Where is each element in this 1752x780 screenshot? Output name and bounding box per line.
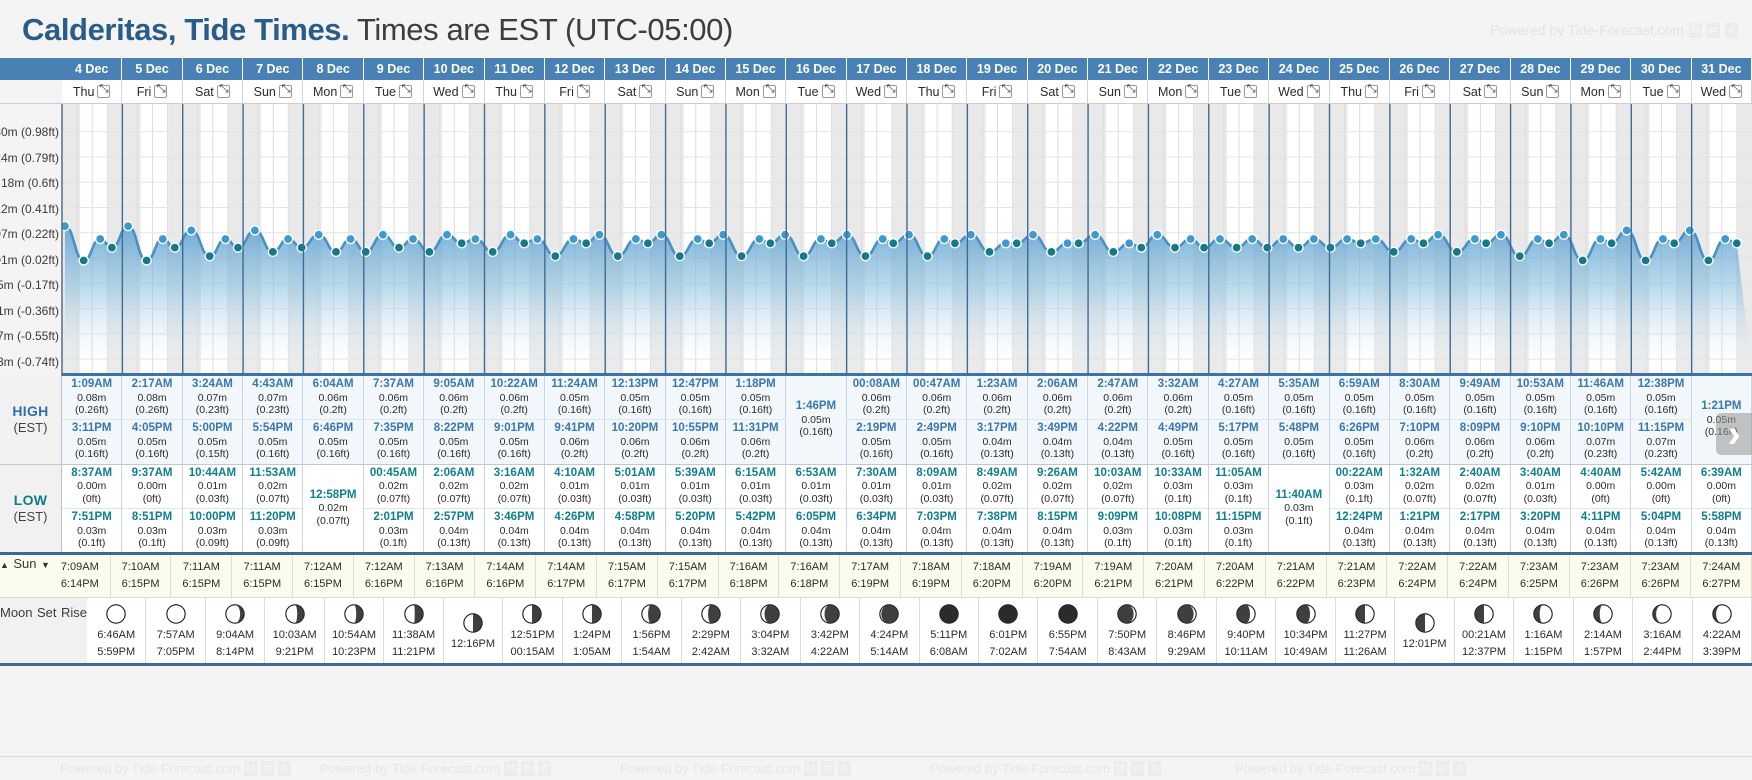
high-tide-feet: (0.16ft) — [1330, 448, 1389, 460]
date-header-13[interactable]: 16 Dec — [786, 58, 846, 80]
low-tide-metres: 0.03m — [1330, 480, 1389, 492]
weekday-header-16[interactable]: Fri — [967, 80, 1027, 103]
weekday-header-17[interactable]: Sat — [1028, 80, 1088, 103]
high-tide-time: 8:22PM — [424, 422, 483, 436]
low-tide-metres: 0.04m — [1571, 525, 1630, 537]
high-tide-time: 3:11PM — [62, 422, 121, 436]
high-tide-event: 4:05PM0.05m(0.16ft) — [122, 419, 181, 463]
tide-point-25 — [442, 230, 451, 239]
low-tide-event: 6:15AM0.01m(0.03ft) — [726, 465, 785, 508]
moonset-time: 6:01PM — [979, 627, 1037, 644]
low-tide-event: 9:09PM0.03m(0.1ft) — [1088, 508, 1147, 552]
moon-phase-icon — [997, 603, 1019, 625]
moonrise-time: 10:11AM — [1217, 644, 1275, 661]
high-tide-time: 5:00PM — [183, 422, 242, 436]
low-tide-metres: 0.01m — [847, 480, 906, 492]
moonrise-time: 2:44PM — [1633, 644, 1691, 661]
moon-cell: 2:14AM1:57PM — [1574, 598, 1633, 663]
weekday-header-18[interactable]: Sun — [1088, 80, 1148, 103]
weekday-header-6[interactable]: Tue — [364, 80, 424, 103]
high-tide-feet: (0.2ft) — [1028, 404, 1087, 416]
date-header-24[interactable]: 27 Dec — [1450, 58, 1510, 80]
tide-point-74 — [1200, 243, 1209, 252]
moon-cell: 12:16PM — [444, 598, 503, 663]
moon-cell: 1:16AM1:15PM — [1514, 598, 1573, 663]
tide-point-16 — [297, 243, 306, 252]
expand-icon[interactable] — [1729, 85, 1742, 98]
tide-point-23 — [408, 234, 417, 243]
tide-point-72 — [1170, 243, 1179, 252]
sunrise-time: 7:14AM — [475, 559, 535, 576]
footer-watermark-badge-1: M — [804, 761, 817, 776]
sunset-time: 6:20PM — [1023, 576, 1083, 593]
date-header-9[interactable]: 12 Dec — [545, 58, 605, 80]
low-tide-event: 11:20PM0.03m(0.09ft) — [243, 508, 302, 552]
low-tide-feet: (0.03ft) — [1511, 493, 1570, 505]
weekday-header-27[interactable]: Tue — [1631, 80, 1691, 103]
date-header-5[interactable]: 8 Dec — [303, 58, 363, 80]
high-tide-time: 6:26PM — [1330, 422, 1389, 436]
expand-icon[interactable] — [1365, 85, 1378, 98]
moonrise-time: 12:37PM — [1455, 644, 1513, 661]
high-tide-metres: 0.05m — [364, 436, 423, 448]
date-header-row: 4 Dec5 Dec6 Dec7 Dec8 Dec9 Dec10 Dec11 D… — [0, 58, 1752, 80]
high-tide-cell: 12:47PM0.05m(0.16ft)10:55PM0.06m(0.2ft) — [666, 376, 726, 464]
low-tide-time: 2:57PM — [424, 511, 483, 525]
date-header-15[interactable]: 18 Dec — [907, 58, 967, 80]
high-tide-feet: (0.16ft) — [1330, 404, 1389, 416]
weekday-header-12[interactable]: Mon — [726, 80, 786, 103]
tide-point-85 — [1371, 234, 1380, 243]
expand-icon[interactable] — [1124, 85, 1137, 98]
sunrise-time: 7:18AM — [962, 559, 1022, 576]
low-tide-cell: 12:58PM0.02m(0.07ft) — [303, 465, 363, 553]
tide-point-57 — [940, 234, 949, 243]
weekday-header-25[interactable]: Sun — [1511, 80, 1571, 103]
tide-point-53 — [878, 234, 887, 243]
expand-icon[interactable] — [1185, 85, 1198, 98]
weekday-label: Tue — [1220, 85, 1241, 99]
moon-phase-icon — [284, 603, 306, 625]
high-tide-event: 11:15PM0.07m(0.23ft) — [1631, 419, 1690, 463]
low-tide-event: 4:10AM0.01m(0.03ft) — [545, 465, 604, 508]
high-tide-event: 00:47AM0.06m(0.2ft) — [907, 376, 966, 419]
low-tide-metres: 0.00m — [1631, 480, 1690, 492]
expand-icon[interactable] — [884, 85, 897, 98]
high-tide-metres: 0.06m — [605, 436, 664, 448]
low-tide-event: 3:40AM0.01m(0.03ft) — [1511, 465, 1570, 508]
low-tide-time: 8:15PM — [1028, 511, 1087, 525]
date-header-6[interactable]: 9 Dec — [364, 58, 424, 80]
weekday-header-26[interactable]: Mon — [1571, 80, 1631, 103]
high-tide-feet: (0.2ft) — [1390, 448, 1449, 460]
expand-icon[interactable] — [154, 85, 167, 98]
weekday-label: Wed — [1278, 85, 1303, 99]
weekday-header-7[interactable]: Wed — [424, 80, 484, 103]
expand-icon[interactable] — [639, 85, 652, 98]
expand-icon[interactable] — [577, 85, 590, 98]
tide-point-95 — [1533, 234, 1542, 243]
date-header-20[interactable]: 23 Dec — [1209, 58, 1269, 80]
tide-point-37 — [631, 234, 640, 243]
high-tide-feet: (0.23ft) — [1571, 448, 1630, 460]
low-tide-cell: 11:53AM0.02m(0.07ft)11:20PM0.03m(0.09ft) — [243, 465, 303, 553]
expand-icon[interactable] — [1484, 85, 1497, 98]
weekday-header-3[interactable]: Sat — [183, 80, 243, 103]
weekday-label: Mon — [313, 85, 337, 99]
sun-cell: 7:11AM6:15PM — [171, 555, 232, 597]
tide-point-39 — [657, 230, 666, 239]
weekday-header-14[interactable]: Wed — [847, 80, 907, 103]
high-tide-cell: 2:17AM0.08m(0.26ft)4:05PM0.05m(0.16ft) — [122, 376, 182, 464]
low-tide-metres: 0.01m — [786, 480, 845, 492]
low-tide-cell: 8:49AM0.02m(0.07ft)7:38PM0.04m(0.13ft) — [967, 465, 1027, 553]
low-tide-cell: 11:40AM0.03m(0.1ft) — [1269, 465, 1329, 553]
weekday-header-2[interactable]: Fri — [122, 80, 182, 103]
weekday-label: Fri — [559, 85, 574, 99]
weekday-label: Wed — [1701, 85, 1726, 99]
weekday-header-1[interactable]: Thu — [62, 80, 122, 103]
date-header-14[interactable]: 17 Dec — [847, 58, 907, 80]
footer-watermark-badge-2: ⇄ — [1436, 761, 1449, 776]
high-tide-cell: 00:47AM0.06m(0.2ft)2:49PM0.05m(0.16ft) — [907, 376, 967, 464]
weekday-header-19[interactable]: Mon — [1148, 80, 1208, 103]
low-tide-metres: 0.02m — [303, 502, 362, 514]
sunset-time: 6:15PM — [171, 576, 231, 593]
low-tide-metres: 0.03m — [1088, 525, 1147, 537]
tide-point-103 — [1658, 234, 1667, 243]
moon-phase-icon — [165, 603, 187, 625]
high-tide-feet: (0.2ft) — [364, 404, 423, 416]
date-header-28[interactable]: 31 Dec — [1692, 58, 1752, 80]
tide-point-41 — [693, 234, 702, 243]
moonrise-time: 5:14AM — [860, 644, 918, 661]
low-tide-event: 6:34PM0.04m(0.13ft) — [847, 508, 906, 552]
weekday-header-10[interactable]: Sat — [605, 80, 665, 103]
high-tide-metres: 0.05m — [1390, 392, 1449, 404]
tide-point-84 — [1356, 239, 1365, 248]
low-tide-metres: 0.02m — [1088, 480, 1147, 492]
moonrise-time: 11:26AM — [1336, 644, 1394, 661]
high-tide-metres: 0.07m — [183, 392, 242, 404]
low-tide-time: 00:22AM — [1330, 467, 1389, 481]
date-header-19[interactable]: 22 Dec — [1148, 58, 1208, 80]
expand-icon[interactable] — [942, 85, 955, 98]
moon-cell: 6:01PM7:02AM — [979, 598, 1038, 663]
low-tide-cell: 00:22AM0.03m(0.1ft)12:24PM0.04m(0.13ft) — [1330, 465, 1390, 553]
low-tide-metres: 0.02m — [967, 480, 1026, 492]
high-tide-time: 3:24AM — [183, 378, 242, 392]
high-tide-time: 00:08AM — [847, 378, 906, 392]
low-tide-label: LOW (EST) — [0, 465, 62, 553]
low-tide-metres: 0.04m — [485, 525, 544, 537]
high-tide-metres: 0.05m — [485, 436, 544, 448]
date-header-26[interactable]: 29 Dec — [1571, 58, 1631, 80]
date-header-18[interactable]: 21 Dec — [1088, 58, 1148, 80]
high-tide-metres: 0.06m — [1450, 436, 1509, 448]
moonrise-time: 7:05PM — [146, 644, 204, 661]
moon-cell: 10:34PM10:49AM — [1276, 598, 1335, 663]
moon-phase-icon — [403, 603, 425, 625]
date-header-12[interactable]: 15 Dec — [726, 58, 786, 80]
moonrise-time: 10:49AM — [1276, 644, 1334, 661]
high-tide-event: 4:49PM0.05m(0.16ft) — [1148, 419, 1207, 463]
low-tide-time: 9:09PM — [1088, 511, 1147, 525]
low-tide-time: 3:46PM — [485, 511, 544, 525]
weekday-header-24[interactable]: Sat — [1450, 80, 1510, 103]
footer-watermark-text: Powered by Tide-Forecast.com — [320, 761, 500, 776]
low-tide-feet: (0.13ft) — [907, 537, 966, 549]
low-tide-event: 11:05AM0.03m(0.1ft) — [1209, 465, 1268, 508]
low-tide-time: 6:53AM — [786, 467, 845, 481]
high-tide-metres: 0.06m — [907, 392, 966, 404]
high-tide-event: 11:31PM0.06m(0.2ft) — [726, 419, 785, 463]
low-tide-cell: 5:39AM0.01m(0.03ft)5:20PM0.04m(0.13ft) — [666, 465, 726, 553]
date-header-1[interactable]: 4 Dec — [62, 58, 122, 80]
expand-icon[interactable] — [999, 85, 1012, 98]
high-tide-metres: 0.05m — [1330, 392, 1389, 404]
low-tide-feet: (0.09ft) — [243, 537, 302, 549]
moonset-time: 1:56PM — [622, 627, 680, 644]
low-tide-feet: (0.1ft) — [1148, 537, 1207, 549]
date-header-10[interactable]: 13 Dec — [605, 58, 665, 80]
low-tide-metres: 0.03m — [62, 525, 121, 537]
low-tide-metres: 0.01m — [1511, 480, 1570, 492]
y-axis-tick-10: -0.23m (-0.74ft) — [0, 355, 59, 369]
moonset-time: 4:24PM — [860, 627, 918, 644]
weekday-label: Tue — [1642, 85, 1663, 99]
date-header-17[interactable]: 20 Dec — [1028, 58, 1088, 80]
weekday-header-20[interactable]: Tue — [1209, 80, 1269, 103]
moon-phase-icon — [521, 603, 543, 625]
high-tide-time: 10:53AM — [1511, 378, 1570, 392]
low-tide-time: 5:20PM — [666, 511, 725, 525]
date-header-23[interactable]: 26 Dec — [1390, 58, 1450, 80]
expand-icon[interactable] — [1608, 85, 1621, 98]
high-tide-event: 2:06AM0.06m(0.2ft) — [1028, 376, 1087, 419]
moonset-time: 7:57AM — [146, 627, 204, 644]
tide-point-10 — [205, 252, 214, 261]
expand-icon[interactable] — [1667, 85, 1680, 98]
high-tide-time: 6:59AM — [1330, 378, 1389, 392]
expand-icon[interactable] — [822, 85, 835, 98]
high-tide-feet: (0.2ft) — [847, 404, 906, 416]
tide-point-67 — [1091, 230, 1100, 239]
low-tide-time: 5:42PM — [726, 511, 785, 525]
weekday-header-21[interactable]: Wed — [1269, 80, 1329, 103]
sunset-time: 6:21PM — [1083, 576, 1143, 593]
footer-watermark-badge-3: A — [838, 761, 851, 776]
low-tide-metres: 0.03m — [1148, 480, 1207, 492]
high-tide-cell: 2:47AM0.06m(0.2ft)4:22PM0.04m(0.13ft) — [1088, 376, 1148, 464]
low-tide-metres: 0.04m — [967, 525, 1026, 537]
date-header-8[interactable]: 11 Dec — [485, 58, 545, 80]
moonset-time: 12:51PM — [503, 627, 561, 644]
low-tide-time: 3:20PM — [1511, 511, 1570, 525]
weekday-header-22[interactable]: Thu — [1330, 80, 1390, 103]
low-tide-cell: 11:05AM0.03m(0.1ft)11:15PM0.03m(0.1ft) — [1209, 465, 1269, 553]
low-tide-time: 4:11PM — [1571, 511, 1630, 525]
high-tide-cell: 6:04AM0.06m(0.2ft)6:46PM0.05m(0.16ft) — [303, 376, 363, 464]
moonrise-time: 1:54AM — [622, 644, 680, 661]
sun-cell: 7:10AM6:15PM — [111, 555, 172, 597]
high-tide-metres: 0.05m — [243, 436, 302, 448]
tide-point-80 — [1294, 243, 1303, 252]
low-tide-time: 4:10AM — [545, 467, 604, 481]
low-tide-event: 1:32AM0.02m(0.07ft) — [1390, 465, 1449, 508]
tide-point-56 — [923, 252, 932, 261]
sun-cell: 7:23AM6:25PM — [1509, 555, 1570, 597]
high-tide-metres: 0.06m — [1390, 436, 1449, 448]
sunset-time: 6:16PM — [415, 576, 475, 593]
date-header-21[interactable]: 24 Dec — [1269, 58, 1329, 80]
low-tide-event: 1:21PM0.04m(0.13ft) — [1390, 508, 1449, 552]
high-tide-metres: 0.06m — [364, 392, 423, 404]
expand-icon[interactable] — [701, 85, 714, 98]
sunset-time: 6:15PM — [293, 576, 353, 593]
expand-icon[interactable] — [1307, 85, 1320, 98]
footer-watermark-2: Powered by Tide-Forecast.comM⇄A — [320, 761, 551, 776]
weekday-header-28[interactable]: Wed — [1692, 80, 1752, 103]
low-tide-event: 6:05PM0.04m(0.13ft) — [786, 508, 845, 552]
expand-icon[interactable] — [1422, 85, 1435, 98]
high-tide-metres: 0.08m — [62, 392, 121, 404]
date-header-2[interactable]: 5 Dec — [122, 58, 182, 80]
high-tide-time: 2:47AM — [1088, 378, 1147, 392]
weekday-header-5[interactable]: Mon — [303, 80, 363, 103]
expand-icon[interactable] — [279, 85, 292, 98]
low-tide-feet: (0.07ft) — [485, 493, 544, 505]
moonrise-time: 7:02AM — [979, 644, 1037, 661]
tide-point-35 — [595, 230, 604, 239]
expand-icon[interactable] — [1546, 85, 1559, 98]
high-tide-feet: (0.26ft) — [62, 404, 121, 416]
low-tide-metres: 0.02m — [1450, 480, 1509, 492]
sun-cell: 7:22AM6:24PM — [1448, 555, 1509, 597]
low-tide-metres: 0.04m — [1450, 525, 1509, 537]
moonset-time: 2:29PM — [682, 627, 740, 644]
sun-cell: 7:15AM6:17PM — [597, 555, 658, 597]
high-tide-metres: 0.04m — [967, 436, 1026, 448]
high-tide-feet: (0.16ft) — [1269, 404, 1328, 416]
high-tide-cell: 11:24AM0.05m(0.16ft)9:41PM0.06m(0.2ft) — [545, 376, 605, 464]
weekday-header-15[interactable]: Thu — [907, 80, 967, 103]
expand-icon[interactable] — [217, 85, 230, 98]
low-tide-metres: 0.00m — [1571, 480, 1630, 492]
low-tide-metres: 0.00m — [1692, 480, 1751, 492]
weekday-header-8[interactable]: Thu — [485, 80, 545, 103]
high-tide-event: 7:37AM0.06m(0.2ft) — [364, 376, 423, 419]
tide-point-46 — [766, 239, 775, 248]
moonset-time: 11:38AM — [384, 627, 442, 644]
high-tide-time: 9:49AM — [1450, 378, 1509, 392]
expand-icon[interactable] — [1062, 85, 1075, 98]
sunset-time: 6:25PM — [1509, 576, 1569, 593]
low-tide-time: 10:03AM — [1088, 467, 1147, 481]
expand-icon[interactable] — [1244, 85, 1257, 98]
high-tide-event: 6:59AM0.05m(0.16ft) — [1330, 376, 1389, 419]
expand-icon[interactable] — [340, 85, 353, 98]
expand-icon[interactable] — [520, 85, 533, 98]
moonrise-time: 11:21PM — [384, 644, 442, 661]
expand-icon[interactable] — [97, 85, 110, 98]
high-tide-metres: 0.05m — [1209, 436, 1268, 448]
date-header-25[interactable]: 28 Dec — [1511, 58, 1571, 80]
weekday-header-13[interactable]: Tue — [786, 80, 846, 103]
high-tide-metres: 0.05m — [122, 436, 181, 448]
low-tide-event: 9:26AM0.02m(0.07ft) — [1028, 465, 1087, 508]
date-header-7[interactable]: 10 Dec — [424, 58, 484, 80]
high-tide-time: 7:10PM — [1390, 422, 1449, 436]
scroll-next-button[interactable] — [1716, 413, 1752, 455]
low-tide-feet: (0.1ft) — [122, 537, 181, 549]
page-title: Calderitas, Tide Times. Times are EST (U… — [22, 12, 733, 48]
tide-point-3 — [96, 234, 105, 243]
watermark-text: Powered by Tide-Forecast.com — [1490, 22, 1684, 38]
weekday-header-23[interactable]: Fri — [1390, 80, 1450, 103]
weekday-header-9[interactable]: Fri — [545, 80, 605, 103]
date-header-16[interactable]: 19 Dec — [967, 58, 1027, 80]
low-tide-metres: 0.04m — [1631, 525, 1690, 537]
high-tide-time: 4:27AM — [1209, 378, 1268, 392]
tide-point-27 — [471, 234, 480, 243]
high-tide-event: 6:46PM0.05m(0.16ft) — [303, 419, 362, 463]
tide-point-102 — [1641, 256, 1650, 265]
low-tide-time: 8:51PM — [122, 511, 181, 525]
low-tide-event: 00:22AM0.03m(0.1ft) — [1330, 465, 1389, 508]
weekday-header-4[interactable]: Sun — [243, 80, 303, 103]
moonset-time: 3:16AM — [1633, 627, 1691, 644]
date-header-3[interactable]: 6 Dec — [183, 58, 243, 80]
low-tide-feet: (0ft) — [62, 493, 121, 505]
high-tide-feet: (0.16ft) — [1148, 448, 1207, 460]
high-tide-event: 5:00PM0.05m(0.15ft) — [183, 419, 242, 463]
tide-point-73 — [1186, 234, 1195, 243]
high-tide-feet: (0.16ft) — [1450, 404, 1509, 416]
date-header-22[interactable]: 25 Dec — [1330, 58, 1390, 80]
high-tide-cell: 4:27AM0.05m(0.16ft)5:17PM0.05m(0.16ft) — [1209, 376, 1269, 464]
high-tide-event: 9:10PM0.06m(0.2ft) — [1511, 419, 1570, 463]
weekday-header-11[interactable]: Sun — [666, 80, 726, 103]
low-tide-event: 5:58PM0.04m(0.13ft) — [1692, 508, 1751, 552]
expand-icon[interactable] — [763, 85, 776, 98]
y-axis-tick-4: 0.12m (0.41ft) — [0, 202, 59, 216]
sunset-time: 6:15PM — [232, 576, 292, 593]
low-tide-event: 10:03AM0.02m(0.07ft) — [1088, 465, 1147, 508]
date-header-11[interactable]: 14 Dec — [666, 58, 726, 80]
low-tide-event: 6:39AM0.00m(0ft) — [1692, 465, 1751, 508]
expand-icon[interactable] — [462, 85, 475, 98]
date-header-27[interactable]: 30 Dec — [1631, 58, 1691, 80]
low-tide-metres: 0.04m — [666, 525, 725, 537]
high-tide-metres: 0.06m — [485, 392, 544, 404]
expand-icon[interactable] — [399, 85, 412, 98]
moonrise-time: 8:43AM — [1098, 644, 1156, 661]
tide-point-6 — [142, 256, 151, 265]
high-tide-event: 2:47AM0.06m(0.2ft) — [1088, 376, 1147, 419]
footer-watermark-badge-3: A — [1148, 761, 1161, 776]
sun-cell: 7:14AM6:17PM — [536, 555, 597, 597]
date-header-4[interactable]: 7 Dec — [243, 58, 303, 80]
low-tide-feet: (0.03ft) — [907, 493, 966, 505]
low-tide-feet: (0.07ft) — [1450, 493, 1509, 505]
tide-point-12 — [233, 243, 242, 252]
moonset-time: 8:46PM — [1157, 627, 1215, 644]
low-tide-event: 5:42PM0.04m(0.13ft) — [726, 508, 785, 552]
moon-cell: 3:42PM4:22AM — [801, 598, 860, 663]
low-tide-feet: (0ft) — [1692, 493, 1751, 505]
tide-point-28 — [488, 247, 497, 256]
